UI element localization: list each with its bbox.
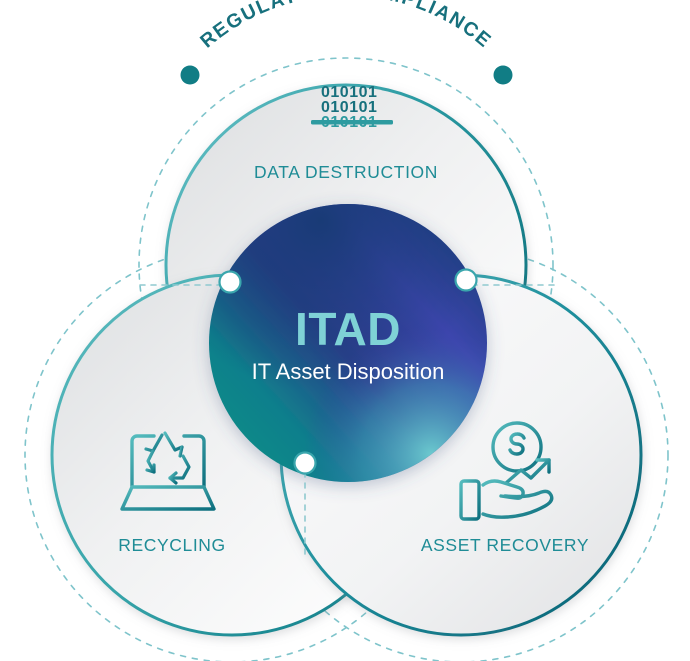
itad-venn-diagram: REGULATORY COMPLIANCE 010101 010101 0101… (0, 0, 690, 661)
regulatory-compliance-arc-label: REGULATORY COMPLIANCE (196, 0, 496, 53)
node-dot-top-left[interactable] (220, 272, 241, 293)
recycle-arrow-top-head (180, 447, 182, 456)
shredder-bar (311, 120, 393, 125)
venn-diagram-canvas: REGULATORY COMPLIANCE 010101 010101 0101… (0, 0, 690, 661)
center-subtitle: IT Asset Disposition (252, 359, 445, 384)
center-node[interactable]: ITAD IT Asset Disposition (209, 204, 487, 482)
marker-dot-left (181, 66, 200, 85)
label-recycling: RECYCLING (118, 535, 226, 555)
arc-label-textpath: REGULATORY COMPLIANCE (196, 0, 496, 53)
marker-dot-right (494, 66, 513, 85)
node-dot-top-right[interactable] (456, 270, 477, 291)
center-title: ITAD (295, 303, 401, 355)
label-asset-recovery: ASSET RECOVERY (421, 535, 589, 555)
label-data-destruction: DATA DESTRUCTION (254, 162, 438, 182)
node-dot-bottom[interactable] (295, 453, 316, 474)
